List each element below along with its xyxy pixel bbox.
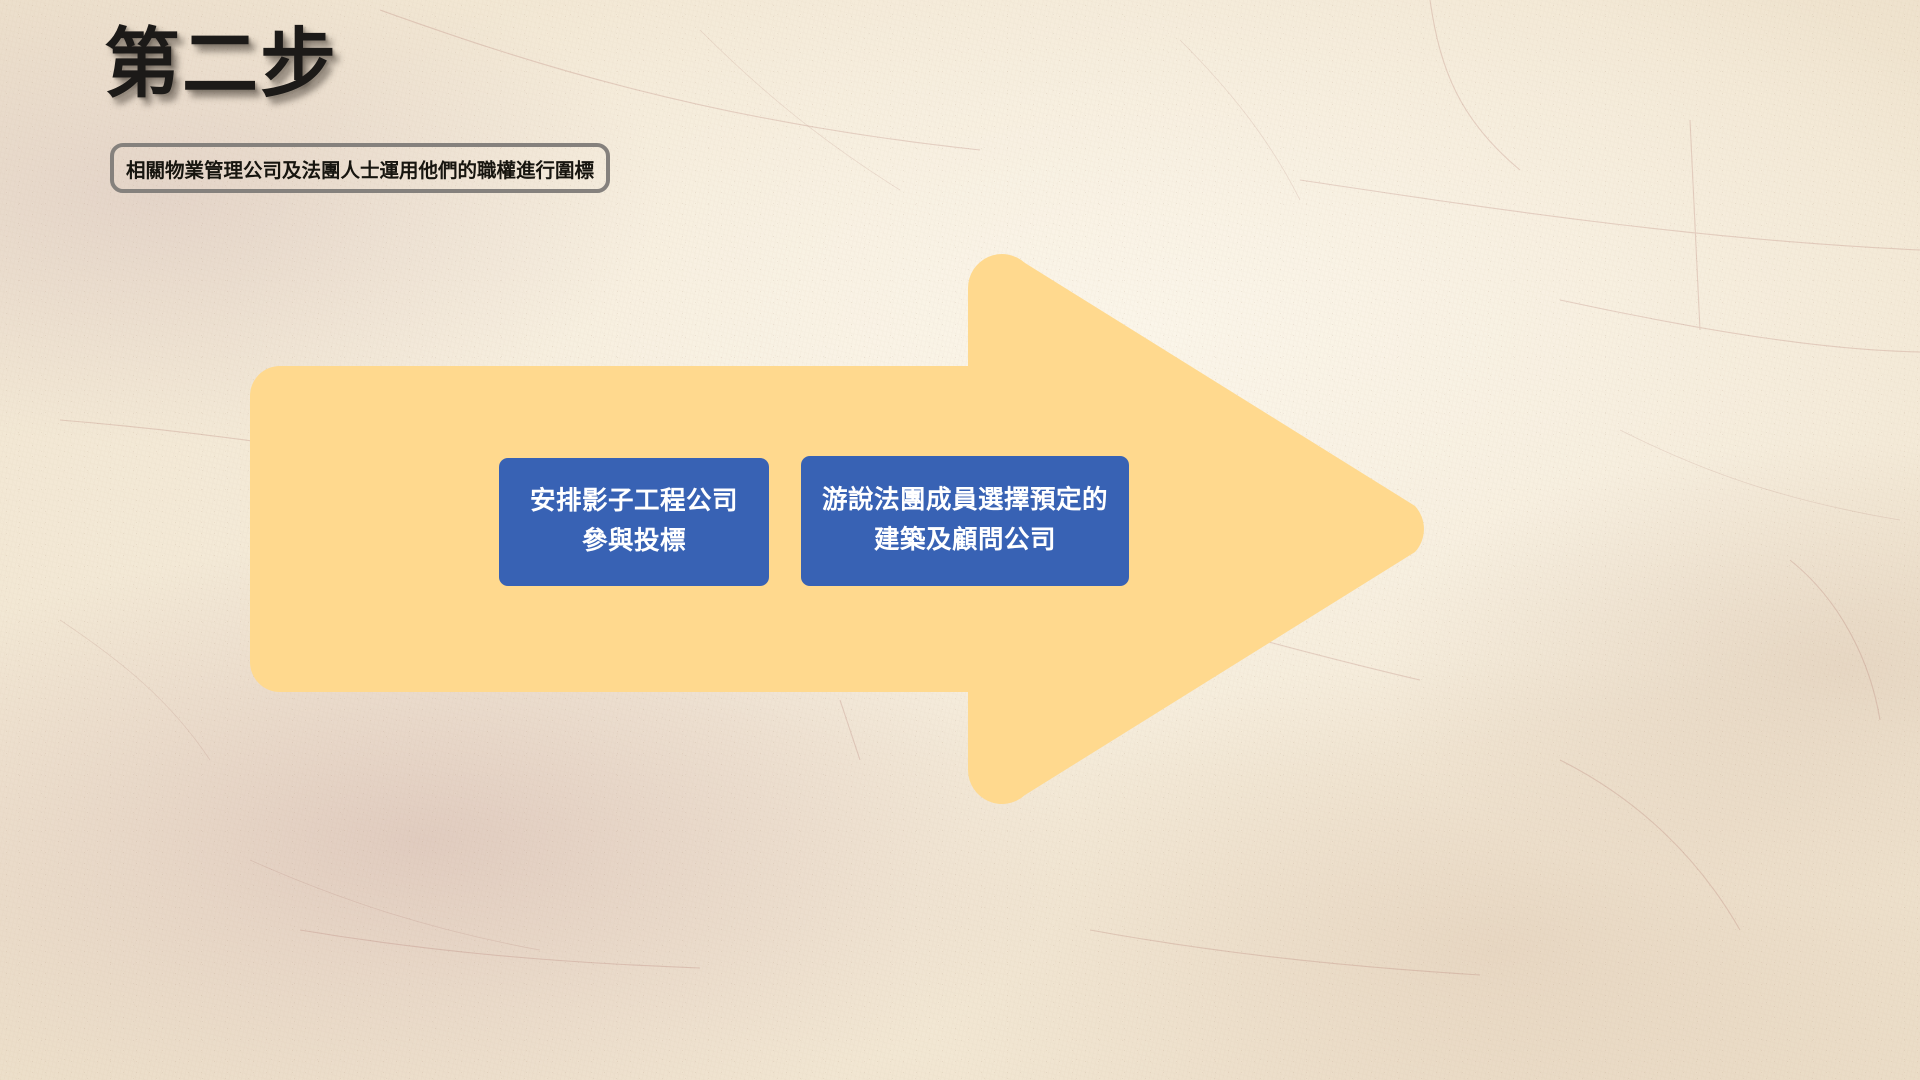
step-box-1-label: 安排影子工程公司 參與投標 [530, 482, 738, 561]
step-box-2-label: 游說法團成員選擇預定的 建築及顧問公司 [822, 481, 1108, 560]
subtitle-text: 相關物業管理公司及法團人士運用他們的職權進行圍標 [126, 154, 594, 183]
subtitle-callout-box: 相關物業管理公司及法團人士運用他們的職權進行圍標 [110, 143, 610, 193]
step-box-1[interactable]: 安排影子工程公司 參與投標 [499, 458, 769, 586]
slide-canvas: 第二步 相關物業管理公司及法團人士運用他們的職權進行圍標 安排影子工程公司 參與… [0, 0, 1920, 1080]
step-box-2[interactable]: 游說法團成員選擇預定的 建築及顧問公司 [801, 456, 1129, 586]
page-title: 第二步 [104, 26, 338, 102]
